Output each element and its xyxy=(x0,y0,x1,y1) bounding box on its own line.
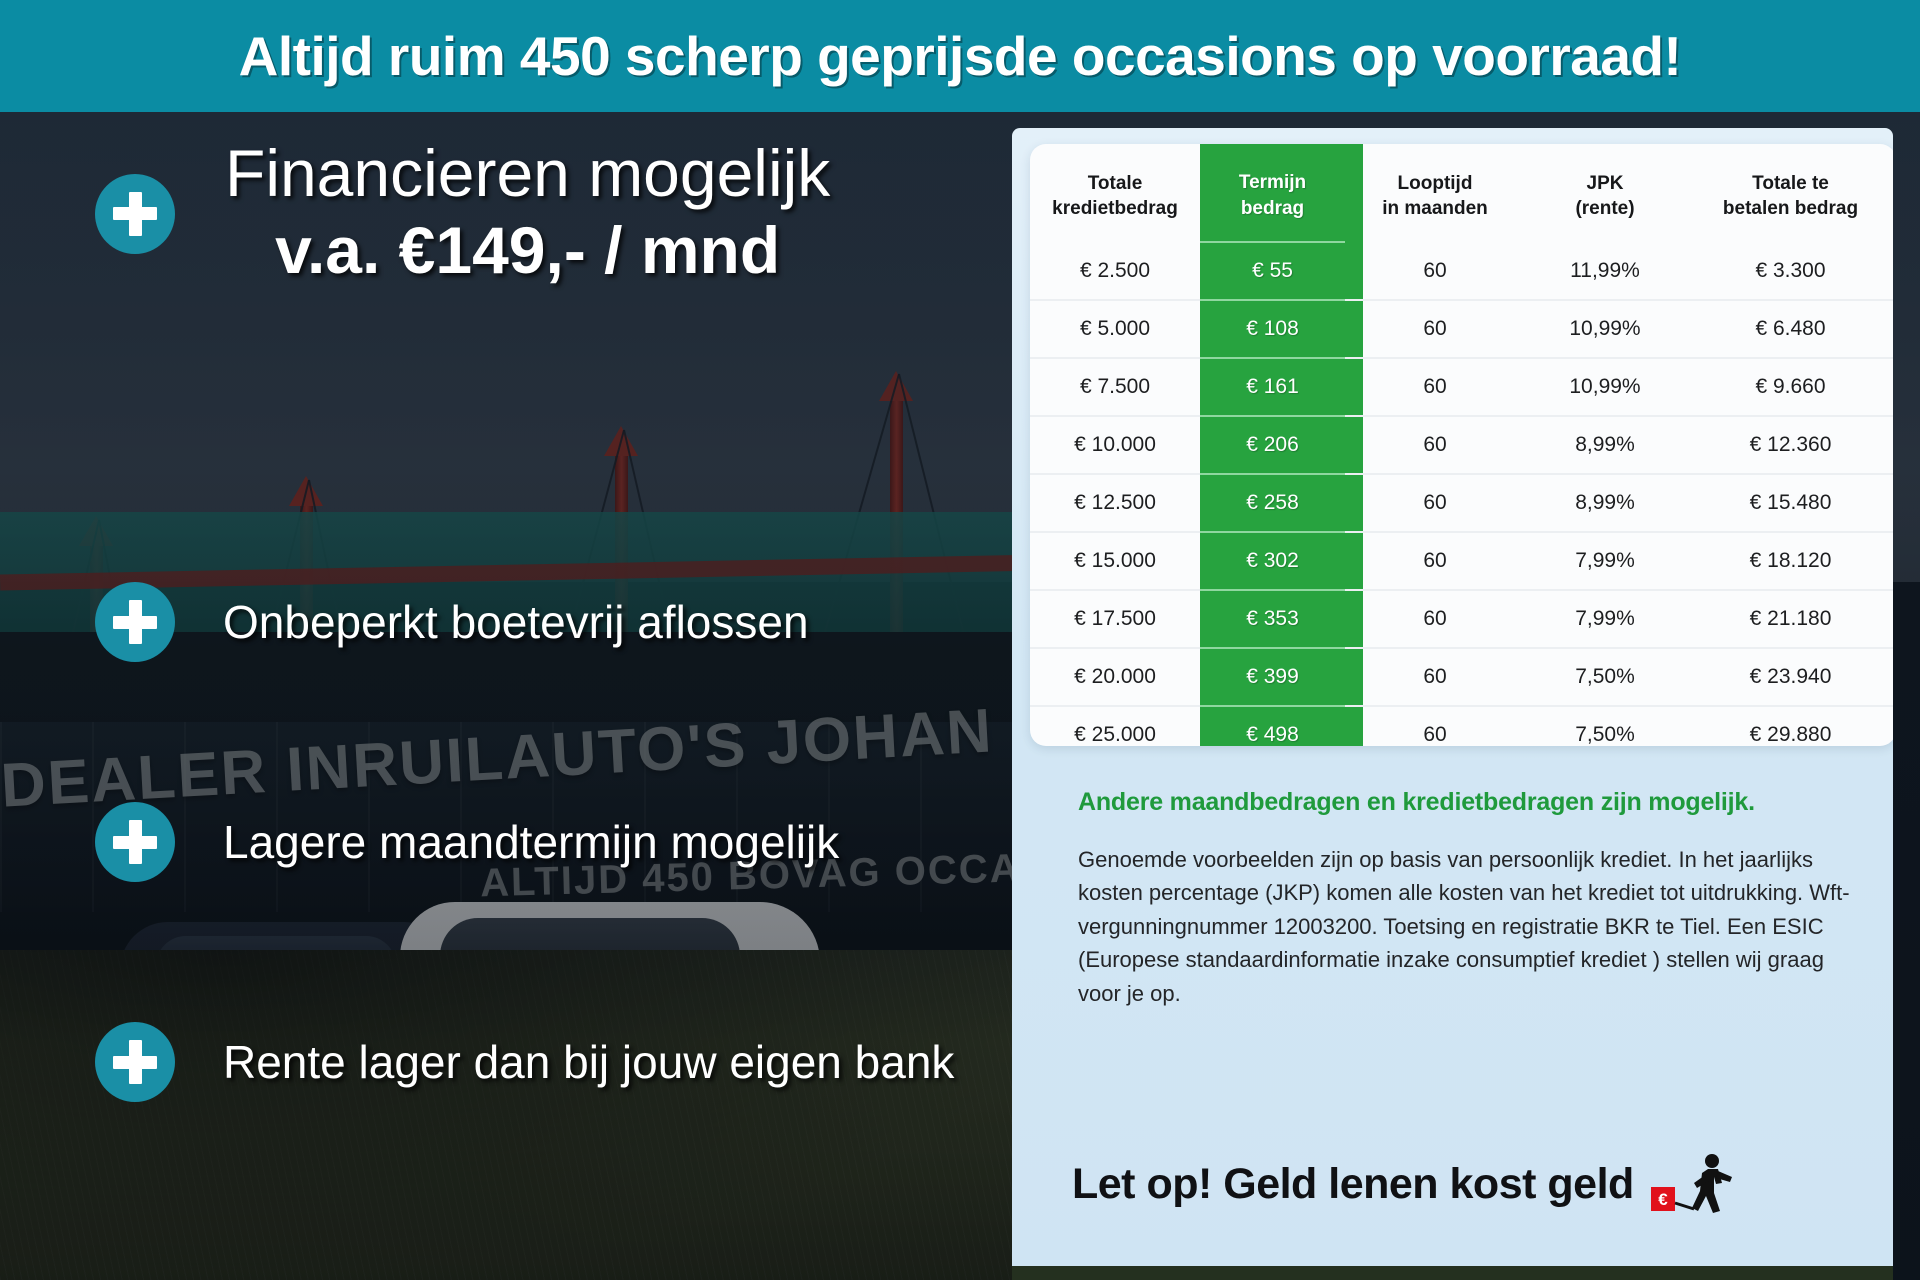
banner-headline: Altijd ruim 450 scherp geprijsde occasio… xyxy=(239,24,1682,88)
table-cell: 60 xyxy=(1345,300,1525,358)
financing-panel: Totale kredietbedrag Termijn bedrag Loop… xyxy=(1012,128,1893,1280)
header-line: Totale xyxy=(1034,171,1196,197)
table-cell: € 206 xyxy=(1200,416,1345,474)
header-line: kredietbedrag xyxy=(1034,196,1196,222)
table-cell: 60 xyxy=(1345,590,1525,648)
top-banner: Altijd ruim 450 scherp geprijsde occasio… xyxy=(0,0,1920,112)
table-cell: € 55 xyxy=(1200,242,1345,300)
header-line: JPK xyxy=(1529,171,1681,197)
header-line: Looptijd xyxy=(1349,171,1521,197)
table-row: € 12.500€ 258608,99%€ 15.480 xyxy=(1030,474,1893,532)
financing-table-body: € 2.500€ 556011,99%€ 3.300€ 5.000€ 10860… xyxy=(1030,242,1893,746)
table-cell: 60 xyxy=(1345,474,1525,532)
table-cell: 10,99% xyxy=(1525,300,1685,358)
financing-table: Totale kredietbedrag Termijn bedrag Loop… xyxy=(1030,144,1893,746)
table-cell: € 302 xyxy=(1200,532,1345,590)
table-cell: € 3.300 xyxy=(1685,242,1893,300)
header-line: (rente) xyxy=(1529,196,1681,222)
header-line: bedrag xyxy=(1204,196,1341,222)
benefit-item-1: Onbeperkt boetevrij aflossen xyxy=(95,582,809,662)
table-cell: 11,99% xyxy=(1525,242,1685,300)
header-line: betalen bedrag xyxy=(1689,196,1892,222)
column-header-termijn-bedrag: Termijn bedrag xyxy=(1200,144,1345,242)
money-costs-money-icon: € xyxy=(1650,1153,1736,1215)
headline-line-1: Financieren mogelijk xyxy=(225,137,830,211)
headline-line-2: v.a. €149,- / mnd xyxy=(225,211,830,290)
table-cell: 7,99% xyxy=(1525,590,1685,648)
table-cell: € 23.940 xyxy=(1685,648,1893,706)
plus-icon xyxy=(95,1022,175,1102)
disclaimer-heading: Andere maandbedragen en kredietbedragen … xyxy=(1078,788,1868,817)
table-cell: € 7.500 xyxy=(1030,358,1200,416)
table-cell: 7,50% xyxy=(1525,706,1685,746)
headline-block: Financieren mogelijk v.a. €149,- / mnd xyxy=(95,137,995,290)
table-cell: € 12.360 xyxy=(1685,416,1893,474)
table-cell: € 353 xyxy=(1200,590,1345,648)
column-header-jpk: JPK (rente) xyxy=(1525,144,1685,242)
table-cell: € 18.120 xyxy=(1685,532,1893,590)
table-cell: 10,99% xyxy=(1525,358,1685,416)
table-row: € 10.000€ 206608,99%€ 12.360 xyxy=(1030,416,1893,474)
table-cell: € 498 xyxy=(1200,706,1345,746)
table-cell: € 258 xyxy=(1200,474,1345,532)
table-cell: € 399 xyxy=(1200,648,1345,706)
column-header-totale-kredietbedrag: Totale kredietbedrag xyxy=(1030,144,1200,242)
table-cell: € 25.000 xyxy=(1030,706,1200,746)
table-cell: € 9.660 xyxy=(1685,358,1893,416)
table-cell: 60 xyxy=(1345,416,1525,474)
table-cell: € 21.180 xyxy=(1685,590,1893,648)
table-row: € 17.500€ 353607,99%€ 21.180 xyxy=(1030,590,1893,648)
table-header-row: Totale kredietbedrag Termijn bedrag Loop… xyxy=(1030,144,1893,242)
table-cell: € 12.500 xyxy=(1030,474,1200,532)
header-line: Totale te xyxy=(1689,171,1892,197)
table-cell: 60 xyxy=(1345,242,1525,300)
table-cell: € 6.480 xyxy=(1685,300,1893,358)
column-header-totale-te-betalen: Totale te betalen bedrag xyxy=(1685,144,1893,242)
table-row: € 15.000€ 302607,99%€ 18.120 xyxy=(1030,532,1893,590)
table-cell: € 15.000 xyxy=(1030,532,1200,590)
header-line: Termijn xyxy=(1204,170,1341,196)
benefit-label: Lagere maandtermijn mogelijk xyxy=(223,815,839,869)
table-cell: 60 xyxy=(1345,648,1525,706)
benefit-item-2: Lagere maandtermijn mogelijk xyxy=(95,802,839,882)
table-cell: 8,99% xyxy=(1525,474,1685,532)
credit-warning: Let op! Geld lenen kost geld € xyxy=(1072,1153,1736,1215)
table-cell: 60 xyxy=(1345,706,1525,746)
table-cell: 7,99% xyxy=(1525,532,1685,590)
svg-text:€: € xyxy=(1658,1190,1668,1209)
plus-icon xyxy=(95,582,175,662)
disclaimer-block: Andere maandbedragen en kredietbedragen … xyxy=(1078,788,1868,1010)
table-row: € 25.000€ 498607,50%€ 29.880 xyxy=(1030,706,1893,746)
table-cell: € 161 xyxy=(1200,358,1345,416)
benefit-label: Onbeperkt boetevrij aflossen xyxy=(223,595,809,649)
table-cell: € 17.500 xyxy=(1030,590,1200,648)
column-header-looptijd: Looptijd in maanden xyxy=(1345,144,1525,242)
left-content: Financieren mogelijk v.a. €149,- / mnd O… xyxy=(0,112,1020,1280)
advertisement-poster: Altijd ruim 450 scherp geprijsde occasio… xyxy=(0,0,1920,1280)
table-cell: € 10.000 xyxy=(1030,416,1200,474)
panel-bottom-edge xyxy=(1012,1266,1893,1280)
table-row: € 5.000€ 1086010,99%€ 6.480 xyxy=(1030,300,1893,358)
plus-icon xyxy=(95,174,175,254)
table-cell: € 20.000 xyxy=(1030,648,1200,706)
financing-table-card: Totale kredietbedrag Termijn bedrag Loop… xyxy=(1030,144,1893,746)
table-cell: 60 xyxy=(1345,532,1525,590)
table-cell: € 108 xyxy=(1200,300,1345,358)
benefit-label: Rente lager dan bij jouw eigen bank xyxy=(223,1035,954,1089)
warning-label: Let op! Geld lenen kost geld xyxy=(1072,1160,1634,1209)
table-cell: 8,99% xyxy=(1525,416,1685,474)
disclaimer-body: Genoemde voorbeelden zijn op basis van p… xyxy=(1078,843,1868,1010)
table-cell: € 15.480 xyxy=(1685,474,1893,532)
table-row: € 2.500€ 556011,99%€ 3.300 xyxy=(1030,242,1893,300)
table-cell: 60 xyxy=(1345,358,1525,416)
table-row: € 7.500€ 1616010,99%€ 9.660 xyxy=(1030,358,1893,416)
table-cell: € 2.500 xyxy=(1030,242,1200,300)
table-cell: 7,50% xyxy=(1525,648,1685,706)
table-cell: € 29.880 xyxy=(1685,706,1893,746)
benefit-item-3: Rente lager dan bij jouw eigen bank xyxy=(95,1022,954,1102)
plus-icon xyxy=(95,802,175,882)
header-line: in maanden xyxy=(1349,196,1521,222)
table-row: € 20.000€ 399607,50%€ 23.940 xyxy=(1030,648,1893,706)
table-cell: € 5.000 xyxy=(1030,300,1200,358)
